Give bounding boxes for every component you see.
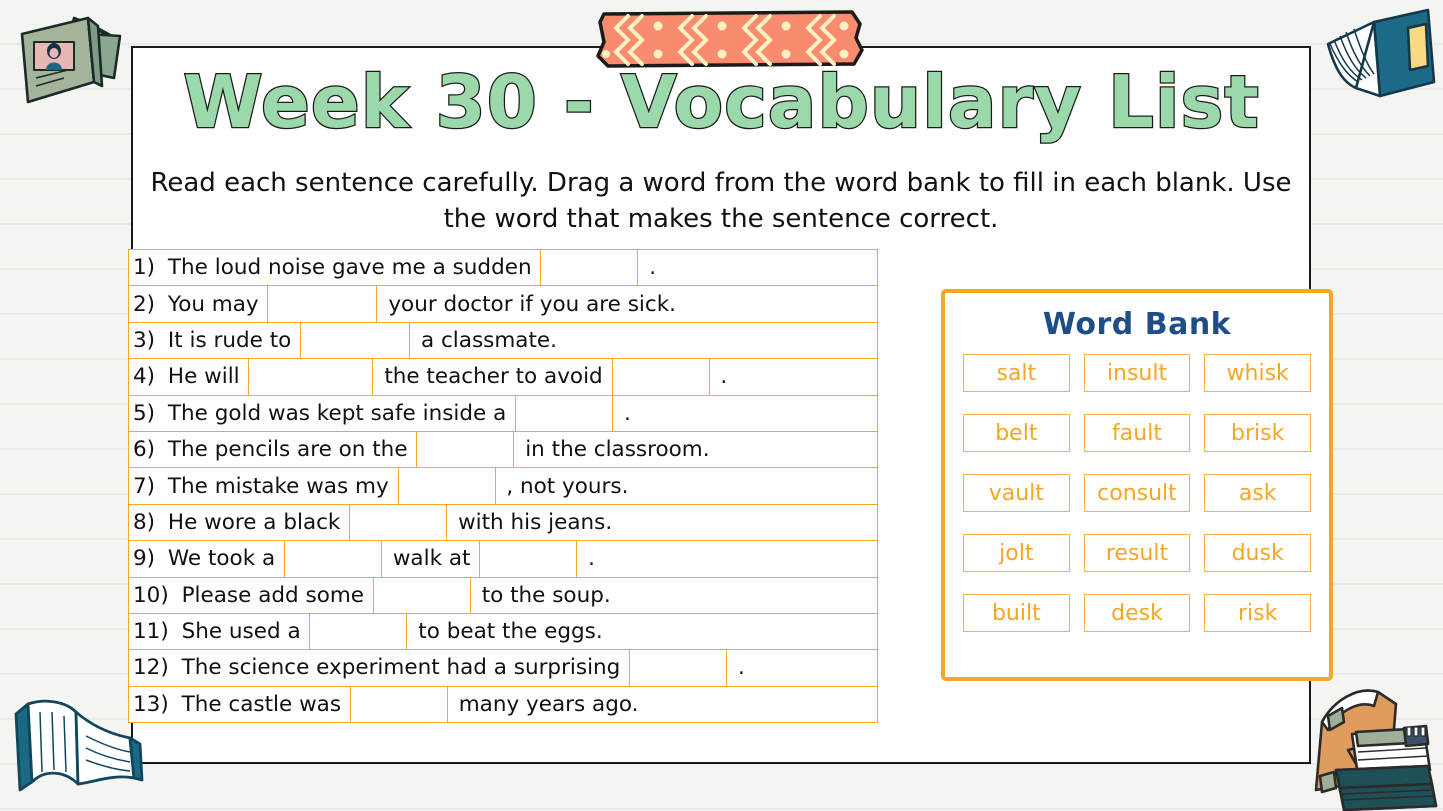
sentence-text: . — [577, 541, 597, 576]
word-bank-chip[interactable]: built — [963, 594, 1070, 632]
word-bank-grid: saltinsultwhiskbeltfaultbriskvaultconsul… — [945, 354, 1329, 632]
sentence-number: 4) — [129, 359, 157, 394]
sentence-text: , not yours. — [496, 468, 631, 503]
sentence-number: 2) — [129, 286, 157, 321]
sentence-number: 6) — [129, 432, 157, 467]
sentence-row: 3) It is rude to a classmate. — [129, 323, 877, 359]
sentence-text: walk at — [382, 541, 479, 576]
answer-blank[interactable] — [416, 432, 514, 467]
sentence-text: . — [613, 396, 633, 431]
answer-blank[interactable] — [540, 250, 638, 285]
word-bank-panel: Word Bank saltinsultwhiskbeltfaultbriskv… — [941, 289, 1333, 681]
word-bank-chip[interactable]: risk — [1204, 594, 1311, 632]
answer-blank[interactable] — [398, 468, 496, 503]
sentence-text: a classmate. — [410, 323, 559, 358]
word-bank-chip[interactable]: desk — [1084, 594, 1191, 632]
sentence-text: in the classroom. — [514, 432, 711, 467]
sentence-row: 11) She used a to beat the eggs. — [129, 614, 877, 650]
word-bank-chip[interactable]: fault — [1084, 414, 1191, 452]
sentence-number: 5) — [129, 396, 157, 431]
sentence-text: The pencils are on the — [157, 432, 416, 467]
sentence-text: You may — [157, 286, 267, 321]
word-bank-chip[interactable]: salt — [963, 354, 1070, 392]
sentence-text: The mistake was my — [157, 468, 397, 503]
sentence-text: He will — [157, 359, 248, 394]
word-bank-chip[interactable]: whisk — [1204, 354, 1311, 392]
sentence-text: She used a — [171, 614, 310, 649]
sentence-number: 7) — [129, 468, 157, 503]
answer-blank[interactable] — [309, 614, 407, 649]
sentence-text: many years ago. — [448, 687, 641, 722]
closed-book-teal-icon — [1312, 4, 1440, 112]
answer-blank[interactable] — [515, 396, 613, 431]
sentence-row: 4) He will the teacher to avoid . — [129, 359, 877, 395]
answer-blank[interactable] — [267, 286, 377, 321]
sentence-text: your doctor if you are sick. — [377, 286, 678, 321]
sentence-text: with his jeans. — [447, 505, 614, 540]
answer-blank[interactable] — [284, 541, 382, 576]
answer-blank[interactable] — [479, 541, 577, 576]
sentence-text: Please add some — [171, 578, 373, 613]
sentence-number: 9) — [129, 541, 157, 576]
open-book-teal-icon — [6, 672, 154, 808]
answer-blank[interactable] — [629, 650, 727, 685]
sentence-text: The science experiment had a surprising — [171, 650, 629, 685]
sentence-list: 1) The loud noise gave me a sudden .2) Y… — [128, 249, 878, 723]
answer-blank[interactable] — [612, 359, 710, 394]
instructions-text: Read each sentence carefully. Drag a wor… — [131, 165, 1311, 237]
word-bank-chip[interactable]: insult — [1084, 354, 1191, 392]
word-bank-chip[interactable]: belt — [963, 414, 1070, 452]
sentence-number: 8) — [129, 505, 157, 540]
sentence-text: The loud noise gave me a sudden — [157, 250, 540, 285]
sentence-row: 10) Please add some to the soup. — [129, 578, 877, 614]
sentence-row: 13) The castle was many years ago. — [129, 687, 877, 723]
word-bank-chip[interactable]: jolt — [963, 534, 1070, 572]
sentence-number: 11) — [129, 614, 171, 649]
sentence-row: 9) We took a walk at . — [129, 541, 877, 577]
washi-tape-icon — [594, 8, 864, 70]
sentence-text: to the soup. — [471, 578, 613, 613]
word-bank-chip[interactable]: result — [1084, 534, 1191, 572]
answer-blank[interactable] — [300, 323, 410, 358]
sentence-text: to beat the eggs. — [407, 614, 604, 649]
sentence-row: 2) You may your doctor if you are sick. — [129, 286, 877, 322]
open-book-green-icon — [2, 6, 134, 126]
answer-blank[interactable] — [350, 687, 448, 722]
stack-of-books-icon — [1300, 672, 1443, 811]
word-bank-heading: Word Bank — [945, 307, 1329, 342]
sentence-row: 12) The science experiment had a surpris… — [129, 650, 877, 686]
word-bank-chip[interactable]: vault — [963, 474, 1070, 512]
sentence-row: 5) The gold was kept safe inside a . — [129, 396, 877, 432]
sentence-text: We took a — [157, 541, 284, 576]
answer-blank[interactable] — [373, 578, 471, 613]
sentence-text: The gold was kept safe inside a — [157, 396, 515, 431]
word-bank-chip[interactable]: consult — [1084, 474, 1191, 512]
sentence-text: . — [727, 650, 747, 685]
sentence-row: 7) The mistake was my , not yours. — [129, 468, 877, 504]
sentence-number: 10) — [129, 578, 171, 613]
word-bank-chip[interactable]: dusk — [1204, 534, 1311, 572]
sentence-number: 3) — [129, 323, 157, 358]
answer-blank[interactable] — [349, 505, 447, 540]
sentence-text: It is rude to — [157, 323, 300, 358]
answer-blank[interactable] — [248, 359, 373, 394]
sentence-number: 1) — [129, 250, 157, 285]
sentence-text: the teacher to avoid — [373, 359, 611, 394]
sentence-text: . — [710, 359, 730, 394]
sentence-text: He wore a black — [157, 505, 349, 540]
word-bank-chip[interactable]: brisk — [1204, 414, 1311, 452]
word-bank-chip[interactable]: ask — [1204, 474, 1311, 512]
sentence-row: 8) He wore a black with his jeans. — [129, 505, 877, 541]
sentence-text: The castle was — [171, 687, 350, 722]
page-title: Week 30 - Vocabulary List — [0, 66, 1443, 138]
sentence-row: 1) The loud noise gave me a sudden . — [129, 250, 877, 286]
sentence-text: . — [638, 250, 658, 285]
sentence-row: 6) The pencils are on the in the classro… — [129, 432, 877, 468]
